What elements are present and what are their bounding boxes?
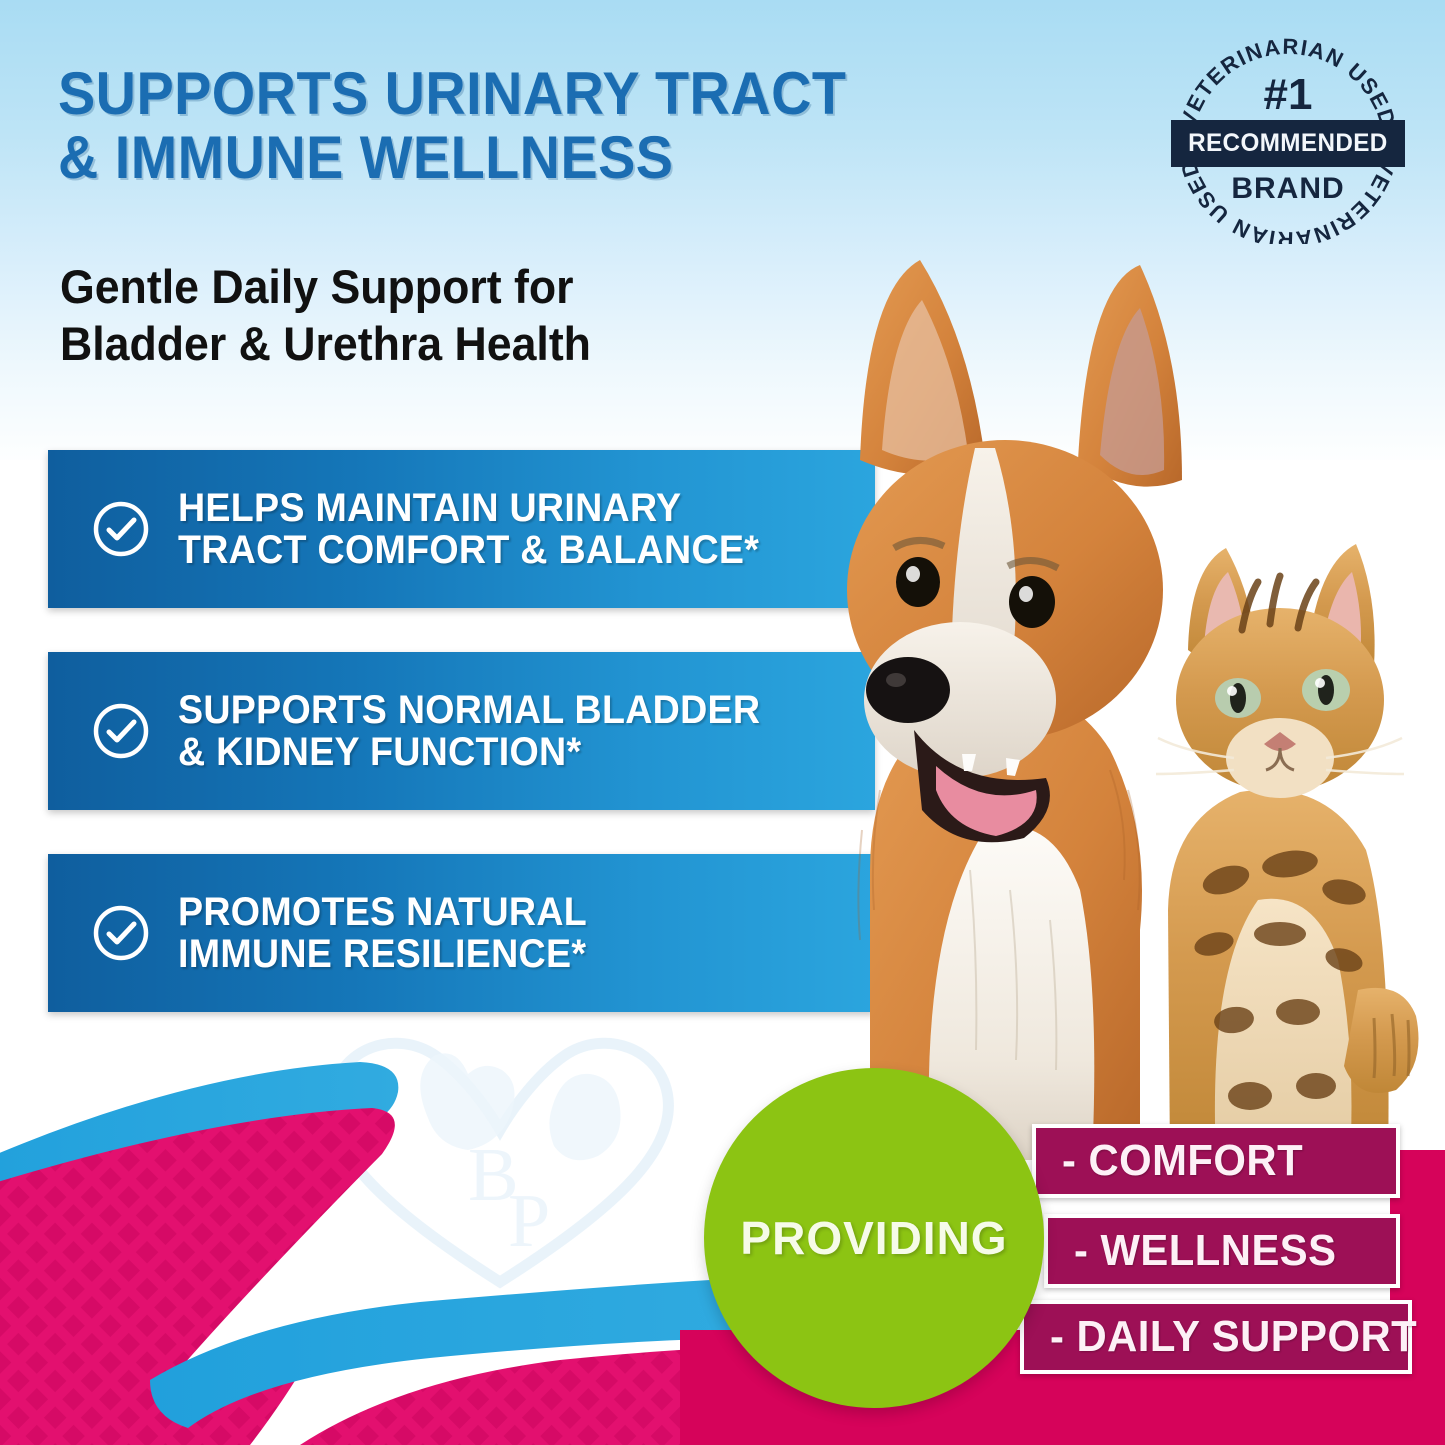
benefit-bar-2-text: SUPPORTS NORMAL BLADDER & KIDNEY FUNCTIO… [178,689,760,774]
badge-ribbon: RECOMMENDED [1171,120,1405,167]
product-infographic: SUPPORTS URINARY TRACT & IMMUNE WELLNESS… [0,0,1445,1445]
benefit-bar-1-text: HELPS MAINTAIN URINARY TRACT COMFORT & B… [178,487,759,572]
decorative-swoosh-shapes [0,1050,780,1445]
vet-recommended-badge: VETERINARIAN USED VETERINARIAN USED #1 R… [1168,32,1408,244]
benefit-bar-3-text: PROMOTES NATURAL IMMUNE RESILIENCE* [178,891,587,976]
benefit-3-line-1: PROMOTES NATURAL [178,890,587,934]
tag-wellness: - WELLNESS [1044,1214,1400,1288]
benefit-bar-3: PROMOTES NATURAL IMMUNE RESILIENCE* [48,854,875,1012]
providing-label: PROVIDING [740,1211,1007,1265]
badge-number: #1 [1168,70,1408,120]
bengal-cat-illustration [1130,520,1430,1160]
benefit-2-line-2: & KIDNEY FUNCTION* [178,731,760,773]
benefit-1-line-1: HELPS MAINTAIN URINARY [178,486,681,530]
tag-comfort: - COMFORT [1032,1124,1400,1198]
tag-daily-support-label: - DAILY SUPPORT [1050,1312,1417,1362]
badge-brand-label: BRAND [1168,172,1408,206]
pet-photo [800,230,1445,1160]
benefit-bar-2: SUPPORTS NORMAL BLADDER & KIDNEY FUNCTIO… [48,652,875,810]
benefit-3-line-2: IMMUNE RESILIENCE* [178,933,587,975]
tag-wellness-label: - WELLNESS [1074,1226,1337,1276]
headline-line-2: & IMMUNE WELLNESS [58,126,951,190]
check-circle-icon [90,700,152,762]
headline-line-1: SUPPORTS URINARY TRACT [58,60,846,127]
page-title: SUPPORTS URINARY TRACT & IMMUNE WELLNESS [58,62,951,189]
benefit-bar-1: HELPS MAINTAIN URINARY TRACT COMFORT & B… [48,450,875,608]
subtitle-line-1: Gentle Daily Support for [60,260,574,313]
check-circle-icon [90,902,152,964]
benefit-2-line-1: SUPPORTS NORMAL BLADDER [178,688,760,732]
providing-badge: PROVIDING [704,1068,1044,1408]
check-circle-icon [90,498,152,560]
page-subtitle: Gentle Daily Support for Bladder & Ureth… [60,258,744,373]
badge-ribbon-label: RECOMMENDED [1188,129,1388,158]
benefit-1-line-2: TRACT COMFORT & BALANCE* [178,529,759,571]
subtitle-line-2: Bladder & Urethra Health [60,315,744,372]
tag-daily-support: - DAILY SUPPORT [1020,1300,1412,1374]
tag-comfort-label: - COMFORT [1062,1136,1303,1186]
